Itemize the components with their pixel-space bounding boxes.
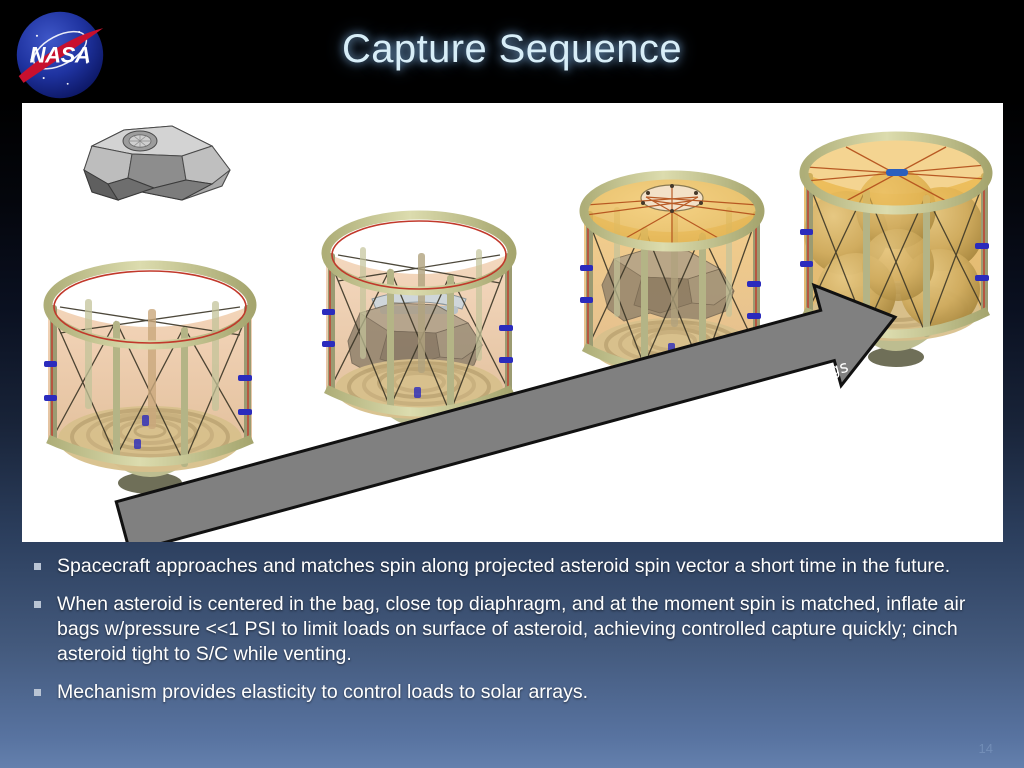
- bullet-text: Mechanism provides elasticity to control…: [57, 680, 986, 705]
- stage-3-diaphragm-closed: [570, 153, 775, 403]
- capture-sequence-diagram: Fly S/C to position bag over asteroid, c…: [22, 103, 1003, 542]
- bullet-text: Spacecraft approaches and matches spin a…: [57, 554, 986, 579]
- list-item: Spacecraft approaches and matches spin a…: [34, 554, 986, 579]
- bullet-text: When asteroid is centered in the bag, cl…: [57, 592, 986, 667]
- list-item: Mechanism provides elasticity to control…: [34, 680, 986, 705]
- stage-4-air-bags-inflated: [790, 113, 1002, 368]
- bullet-list: Spacecraft approaches and matches spin a…: [34, 554, 986, 718]
- bullet-marker-icon: [34, 601, 41, 608]
- asteroid-model-icon: [62, 108, 242, 223]
- slide-root: NASA Capture Sequence: [0, 0, 1024, 768]
- stage-2-bag-over-asteroid: [310, 191, 528, 446]
- bullet-marker-icon: [34, 689, 41, 696]
- list-item: When asteroid is centered in the bag, cl…: [34, 592, 986, 667]
- bullet-marker-icon: [34, 563, 41, 570]
- slide-number: 14: [979, 741, 993, 756]
- page-title: Capture Sequence: [0, 27, 1024, 72]
- asteroid-crater: [123, 131, 157, 151]
- stage-1-empty-capture-bag: [30, 243, 270, 498]
